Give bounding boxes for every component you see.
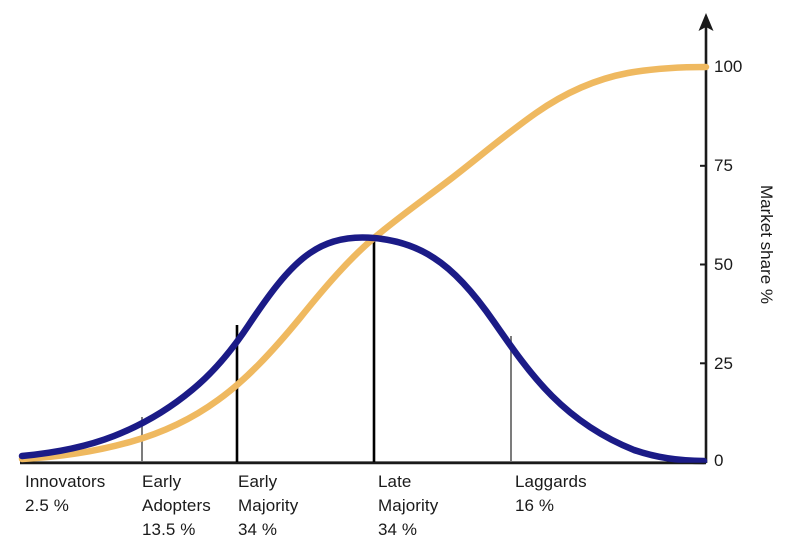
segment-label-early-adopters-line3: 13.5 % xyxy=(142,518,211,542)
segment-label-early-adopters-line1: Early xyxy=(142,470,211,494)
diffusion-of-innovations-chart: 100 75 50 25 0 Market share % Innovators… xyxy=(0,0,800,558)
y-tick-label-25: 25 xyxy=(714,355,733,372)
s-curve-cumulative-series xyxy=(22,67,706,459)
bell-curve-distribution-series xyxy=(22,237,704,461)
y-tick-label-0: 0 xyxy=(714,452,723,469)
y-tick-label-50: 50 xyxy=(714,256,733,273)
y-axis-title: Market share % xyxy=(758,185,775,304)
segment-label-early-adopters: Early Adopters 13.5 % xyxy=(142,470,211,542)
segment-label-laggards-line1: Laggards xyxy=(515,470,587,494)
segment-label-early-adopters-line2: Adopters xyxy=(142,494,211,518)
y-tick-label-100: 100 xyxy=(714,58,742,75)
segment-label-innovators-line2: 2.5 % xyxy=(25,494,105,518)
segment-label-early-majority-line2: Majority xyxy=(238,494,298,518)
segment-label-late-majority-line1: Late xyxy=(378,470,438,494)
segment-label-laggards: Laggards 16 % xyxy=(515,470,587,518)
segment-label-laggards-line2: 16 % xyxy=(515,494,587,518)
y-tick-label-75: 75 xyxy=(714,157,733,174)
segment-label-late-majority-line3: 34 % xyxy=(378,518,438,542)
segment-label-late-majority-line2: Majority xyxy=(378,494,438,518)
segment-label-innovators-line1: Innovators xyxy=(25,470,105,494)
segment-label-early-majority-line1: Early xyxy=(238,470,298,494)
segment-label-early-majority: Early Majority 34 % xyxy=(238,470,298,542)
segment-label-early-majority-line3: 34 % xyxy=(238,518,298,542)
segment-label-innovators: Innovators 2.5 % xyxy=(25,470,105,518)
segment-label-late-majority: Late Majority 34 % xyxy=(378,470,438,542)
